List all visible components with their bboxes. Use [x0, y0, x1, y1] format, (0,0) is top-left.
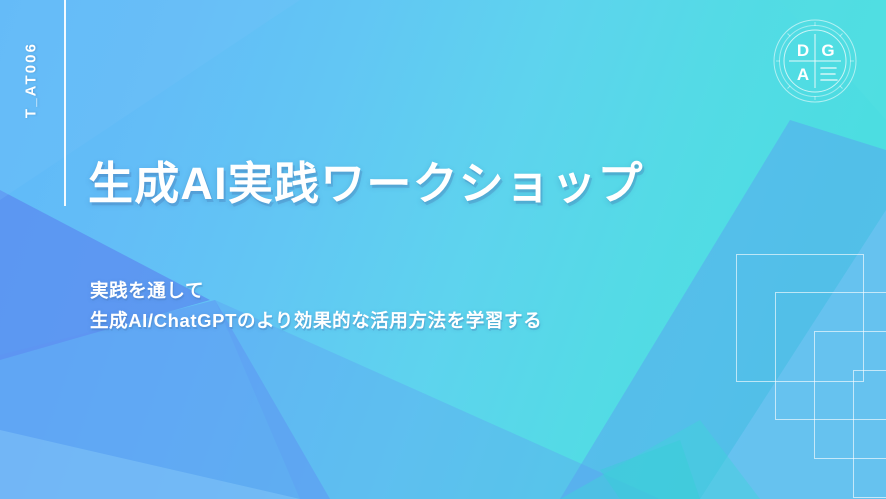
title-slide: T_AT006	[0, 0, 886, 499]
slide-code-label: T_AT006	[23, 42, 40, 118]
decorative-square-4	[853, 370, 886, 498]
dga-logo-badge: D G A	[772, 18, 858, 104]
slide-subtitle: 実践を通して 生成AI/ChatGPTのより効果的な活用方法を学習する	[90, 276, 542, 336]
decorative-squares	[700, 240, 886, 499]
decorative-square-3	[814, 331, 886, 459]
logo-letter-g: G	[821, 41, 834, 60]
logo-letter-a: A	[797, 65, 809, 84]
subtitle-line-2: 生成AI/ChatGPTのより効果的な活用方法を学習する	[90, 306, 542, 336]
subtitle-line-1: 実践を通して	[90, 276, 542, 306]
vertical-divider-rule	[64, 0, 66, 206]
logo-letter-d: D	[797, 41, 809, 60]
decorative-square-1	[736, 254, 864, 382]
slide-code: T_AT006	[14, 20, 48, 140]
decorative-square-2	[775, 292, 886, 420]
slide-title: 生成AI実践ワークショップ	[88, 157, 644, 210]
background-facets	[0, 0, 886, 499]
